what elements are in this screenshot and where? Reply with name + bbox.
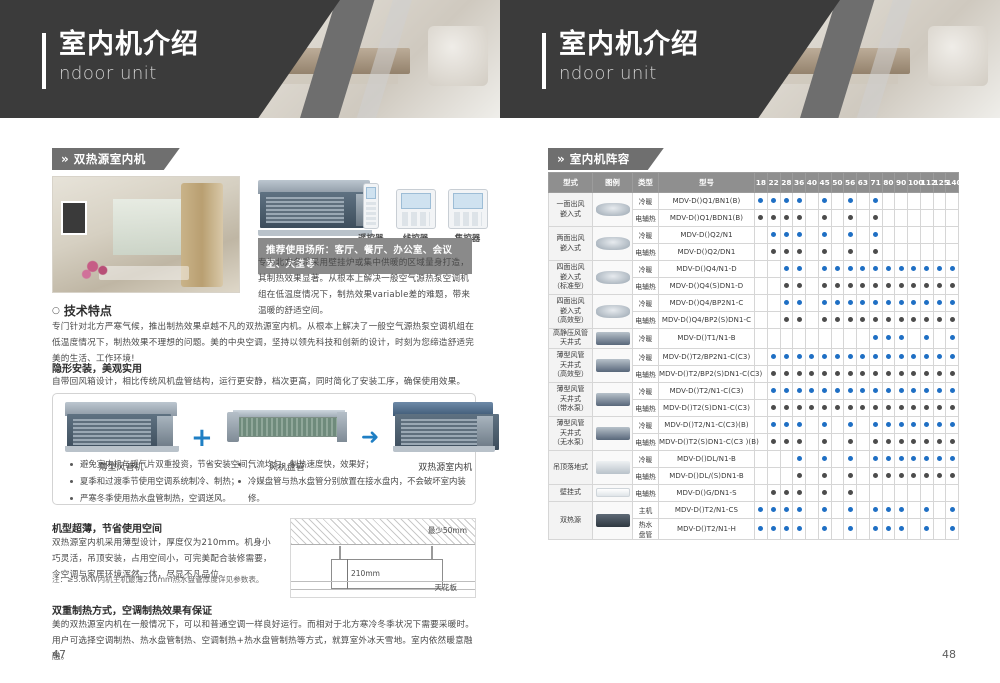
cell-capacity-63 (857, 416, 870, 433)
availability-dot-icon (835, 317, 840, 322)
cell-capacity-90 (895, 193, 908, 210)
availability-dot-icon (937, 473, 942, 478)
cell-capacity-56 (844, 399, 857, 416)
cell-capacity-36 (793, 278, 806, 295)
cell-capacity-112 (920, 278, 933, 295)
cell-capacity-112 (920, 210, 933, 227)
cell-model-number: MDV-D()Q4/BP2N1-C (659, 295, 755, 312)
availability-dot-icon (886, 422, 891, 427)
cell-capacity-36 (793, 348, 806, 365)
cell-capacity-63 (857, 382, 870, 399)
cell-capacity-140 (946, 244, 959, 261)
bullet-list-left: 避免室内机与暖气片双重投资，节省安装空间； 夏季和过渡季节使用空调系统制冷、制热… (70, 456, 260, 506)
cell-model-number: MDV-D()T2/N1-C(C3) (659, 382, 755, 399)
availability-dot-icon (822, 405, 827, 410)
availability-dot-icon (873, 283, 878, 288)
availability-dot-icon (784, 439, 789, 444)
bullet-list-right: 气流均匀，制热速度快，效果好； 冷媒盘管与热水盘管分别放置在接水盘内，不会破坏室… (238, 456, 468, 506)
cell-capacity-18 (755, 210, 768, 227)
tech-heading-row: ○ 技术特点 (52, 302, 112, 319)
cell-capacity-71 (869, 193, 882, 210)
ceiling-floor-icon (596, 461, 630, 474)
availability-dot-icon (784, 526, 789, 531)
cell-capacity-45 (818, 329, 831, 349)
cell-capacity-28 (780, 329, 793, 349)
cell-capacity-40 (806, 501, 819, 518)
cell-capacity-80 (882, 278, 895, 295)
sub3-paragraph: 美的双热源室内机在一般情况下，可以和普通空调一样良好运行。而相对于北方寒冷冬季状… (52, 618, 476, 666)
cell-capacity-63 (857, 518, 870, 539)
cell-capacity-36 (793, 365, 806, 382)
cell-capacity-28 (780, 450, 793, 467)
availability-dot-icon (809, 405, 814, 410)
interior-room-photo (52, 176, 240, 293)
availability-dot-icon (848, 354, 853, 359)
cell-capacity-45 (818, 227, 831, 244)
cell-illustration (593, 193, 633, 227)
cell-capacity-50 (831, 244, 844, 261)
cell-capacity-140 (946, 278, 959, 295)
availability-dot-icon (886, 300, 891, 305)
availability-dot-icon (797, 490, 802, 495)
cell-capacity-63 (857, 278, 870, 295)
availability-dot-icon (848, 473, 853, 478)
cell-capacity-100 (908, 193, 921, 210)
availability-dot-icon (848, 283, 853, 288)
cell-capacity-22 (767, 312, 780, 329)
availability-dot-icon (797, 405, 802, 410)
availability-dot-icon (899, 388, 904, 393)
cell-capacity-50 (831, 433, 844, 450)
col-header-capacity-100: 100 (908, 173, 921, 193)
cell-capacity-40 (806, 312, 819, 329)
cell-capacity-100 (908, 416, 921, 433)
list-item: 避免室内机与暖气片双重投资，节省安装空间； (70, 456, 260, 473)
availability-dot-icon (924, 439, 929, 444)
availability-dot-icon (950, 422, 955, 427)
cell-capacity-112 (920, 365, 933, 382)
cell-model-number: MDV-D()Q1/BDN1(B) (659, 210, 755, 227)
availability-dot-icon (848, 371, 853, 376)
availability-dot-icon (873, 215, 878, 220)
cell-capacity-50 (831, 227, 844, 244)
section-tag-right: » 室内机阵容 (548, 148, 664, 170)
cell-capacity-22 (767, 348, 780, 365)
cell-capacity-80 (882, 484, 895, 501)
availability-dot-icon (911, 439, 916, 444)
plus-icon: + (191, 425, 213, 451)
right-banner: 室内机介绍 ndoor unit (500, 0, 1000, 118)
circle-bullet-icon: ○ (52, 306, 60, 316)
availability-dot-icon (873, 198, 878, 203)
availability-dot-icon (835, 354, 840, 359)
availability-dot-icon (937, 300, 942, 305)
cell-capacity-90 (895, 244, 908, 261)
cell-model-number: MDV-D()Q4(S)DN1-D (659, 278, 755, 295)
availability-dot-icon (937, 354, 942, 359)
cell-capacity-45 (818, 450, 831, 467)
cell-capacity-63 (857, 365, 870, 382)
availability-dot-icon (886, 473, 891, 478)
availability-dot-icon (873, 232, 878, 237)
availability-dot-icon (950, 317, 955, 322)
availability-dot-icon (822, 388, 827, 393)
cell-capacity-90 (895, 312, 908, 329)
cell-capacity-125 (933, 278, 946, 295)
cell-capacity-71 (869, 365, 882, 382)
cell-capacity-63 (857, 399, 870, 416)
cell-heat-type: 电辅热 (633, 210, 659, 227)
cell-capacity-40 (806, 278, 819, 295)
table-row: 薄型风管 天井式 （无水泵）冷暖MDV-D()T2/N1-C(C3)(B) (549, 416, 959, 433)
cell-capacity-36 (793, 433, 806, 450)
cell-capacity-125 (933, 244, 946, 261)
cell-capacity-80 (882, 433, 895, 450)
cell-capacity-100 (908, 348, 921, 365)
cell-capacity-63 (857, 450, 870, 467)
cell-capacity-50 (831, 501, 844, 518)
cell-capacity-56 (844, 329, 857, 349)
cell-capacity-22 (767, 227, 780, 244)
cell-capacity-80 (882, 501, 895, 518)
cell-capacity-112 (920, 227, 933, 244)
cell-capacity-18 (755, 416, 768, 433)
cell-capacity-140 (946, 312, 959, 329)
cell-form-type: 四面出风 嵌入式 （标准型） (549, 261, 593, 295)
cell-capacity-80 (882, 467, 895, 484)
cell-capacity-125 (933, 227, 946, 244)
cell-capacity-28 (780, 295, 793, 312)
cell-capacity-22 (767, 501, 780, 518)
availability-dot-icon (886, 456, 891, 461)
cell-capacity-56 (844, 261, 857, 278)
cell-heat-type: 冷暖 (633, 227, 659, 244)
availability-dot-icon (771, 354, 776, 359)
section-tag-right-label: 室内机阵容 (570, 151, 630, 167)
cell-capacity-28 (780, 433, 793, 450)
table-row: 高静压风管 天井式冷暖MDV-D()T1/N1-B (549, 329, 959, 349)
availability-dot-icon (835, 388, 840, 393)
cell-capacity-140 (946, 501, 959, 518)
table-row: 四面出风 嵌入式 （高效型）冷暖MDV-D()Q4/BP2N1-C (549, 295, 959, 312)
availability-dot-icon (797, 371, 802, 376)
cell-capacity-28 (780, 518, 793, 539)
cell-capacity-18 (755, 329, 768, 349)
cell-model-number: MDV-D()T2(S)DN1-C(C3) (659, 399, 755, 416)
cell-capacity-125 (933, 484, 946, 501)
tech-heading: 技术特点 (64, 302, 112, 319)
table-row: 双热源主机MDV-D()T2/N1-CS (549, 501, 959, 518)
availability-dot-icon (784, 249, 789, 254)
cell-capacity-56 (844, 518, 857, 539)
availability-dot-icon (924, 354, 929, 359)
dual-source-icon (596, 514, 630, 527)
cell-capacity-36 (793, 416, 806, 433)
cell-capacity-45 (818, 382, 831, 399)
cell-heat-type: 冷暖 (633, 348, 659, 365)
slim-duct-pump-icon (596, 393, 630, 406)
availability-dot-icon (924, 283, 929, 288)
sub2-heading: 机型超薄，节省使用空间 (52, 520, 162, 535)
cell-capacity-112 (920, 484, 933, 501)
cell-capacity-71 (869, 312, 882, 329)
cell-capacity-100 (908, 467, 921, 484)
cell-capacity-80 (882, 518, 895, 539)
availability-dot-icon (784, 490, 789, 495)
table-body: 一面出风 嵌入式冷暖MDV-D()Q1/BN1(B)电辅热MDV-D()Q1/B… (549, 193, 959, 540)
availability-dot-icon (911, 456, 916, 461)
cell-capacity-22 (767, 399, 780, 416)
availability-dot-icon (797, 422, 802, 427)
availability-dot-icon (873, 249, 878, 254)
availability-dot-icon (950, 473, 955, 478)
availability-dot-icon (797, 215, 802, 220)
availability-dot-icon (899, 335, 904, 340)
table-row: 薄型风管 天井式 （带水泵）冷暖MDV-D()T2/N1-C(C3) (549, 382, 959, 399)
high-static-duct-icon (596, 332, 630, 345)
availability-dot-icon (822, 232, 827, 237)
cell-capacity-28 (780, 348, 793, 365)
cell-form-type: 吊顶落地式 (549, 450, 593, 484)
cell-capacity-36 (793, 312, 806, 329)
availability-dot-icon (899, 405, 904, 410)
availability-dot-icon (950, 335, 955, 340)
cell-capacity-22 (767, 450, 780, 467)
chevron-double-right-icon: » (557, 152, 563, 166)
cell-capacity-112 (920, 193, 933, 210)
cell-capacity-56 (844, 433, 857, 450)
cell-capacity-112 (920, 501, 933, 518)
availability-dot-icon (873, 317, 878, 322)
availability-dot-icon (822, 249, 827, 254)
availability-dot-icon (911, 473, 916, 478)
cell-capacity-125 (933, 518, 946, 539)
cell-capacity-100 (908, 450, 921, 467)
cell-heat-type: 电辅热 (633, 467, 659, 484)
availability-dot-icon (784, 266, 789, 271)
cell-capacity-80 (882, 261, 895, 278)
cell-capacity-45 (818, 365, 831, 382)
availability-dot-icon (797, 388, 802, 393)
cell-model-number: MDV-D()T2/N1-C(C3)(B) (659, 416, 755, 433)
cell-capacity-90 (895, 382, 908, 399)
cell-capacity-112 (920, 295, 933, 312)
cell-form-type: 薄型风管 天井式 （带水泵） (549, 382, 593, 416)
cell-capacity-56 (844, 450, 857, 467)
availability-dot-icon (784, 215, 789, 220)
cell-capacity-56 (844, 467, 857, 484)
cell-capacity-140 (946, 382, 959, 399)
cell-illustration (593, 348, 633, 382)
availability-dot-icon (860, 317, 865, 322)
availability-dot-icon (950, 405, 955, 410)
cell-capacity-90 (895, 399, 908, 416)
cell-capacity-80 (882, 227, 895, 244)
cell-capacity-18 (755, 193, 768, 210)
cassette-4way-icon (596, 271, 630, 284)
cell-form-type: 两面出风 嵌入式 (549, 227, 593, 261)
availability-dot-icon (784, 388, 789, 393)
cell-heat-type: 冷暖 (633, 193, 659, 210)
cell-capacity-125 (933, 295, 946, 312)
cell-capacity-140 (946, 399, 959, 416)
ceiling-label: 天花板 (435, 582, 458, 593)
cell-model-number: MDV-D()Q1/BN1(B) (659, 193, 755, 210)
controller-central: 集控器 (448, 189, 488, 244)
cell-capacity-140 (946, 484, 959, 501)
availability-dot-icon (860, 283, 865, 288)
availability-dot-icon (771, 422, 776, 427)
cell-capacity-28 (780, 261, 793, 278)
cell-capacity-50 (831, 193, 844, 210)
availability-dot-icon (937, 317, 942, 322)
availability-dot-icon (797, 473, 802, 478)
cell-capacity-40 (806, 382, 819, 399)
cell-form-type: 壁挂式 (549, 484, 593, 501)
availability-dot-icon (911, 317, 916, 322)
availability-dot-icon (848, 300, 853, 305)
cell-capacity-50 (831, 484, 844, 501)
cell-model-number: MDV-D()T2/N1-CS (659, 501, 755, 518)
cell-heat-type: 电辅热 (633, 312, 659, 329)
cell-heat-type: 热水 盘管 (633, 518, 659, 539)
availability-dot-icon (848, 405, 853, 410)
availability-dot-icon (848, 249, 853, 254)
list-item: 冷媒盘管与热水盘管分别放置在接水盘内，不会破坏室内装修。 (238, 473, 468, 507)
cell-capacity-50 (831, 382, 844, 399)
cell-capacity-22 (767, 210, 780, 227)
col-header-capacity-125: 125 (933, 173, 946, 193)
cell-capacity-71 (869, 210, 882, 227)
col-header-capacity-140: 140 (946, 173, 959, 193)
cell-capacity-63 (857, 227, 870, 244)
banner-title-cn-right: 室内机介绍 (559, 30, 699, 60)
availability-dot-icon (809, 388, 814, 393)
availability-dot-icon (873, 456, 878, 461)
cell-capacity-100 (908, 382, 921, 399)
col-header-capacity-63: 63 (857, 173, 870, 193)
cell-capacity-40 (806, 365, 819, 382)
availability-dot-icon (950, 526, 955, 531)
cell-capacity-28 (780, 501, 793, 518)
availability-dot-icon (797, 232, 802, 237)
cell-capacity-50 (831, 518, 844, 539)
availability-dot-icon (924, 405, 929, 410)
availability-dot-icon (873, 526, 878, 531)
cell-heat-type: 电辅热 (633, 433, 659, 450)
availability-dot-icon (784, 371, 789, 376)
cell-capacity-40 (806, 295, 819, 312)
cell-illustration (593, 227, 633, 261)
availability-dot-icon (797, 266, 802, 271)
availability-dot-icon (911, 266, 916, 271)
availability-dot-icon (758, 507, 763, 512)
cell-capacity-63 (857, 484, 870, 501)
cell-heat-type: 电辅热 (633, 365, 659, 382)
availability-dot-icon (784, 317, 789, 322)
availability-dot-icon (797, 300, 802, 305)
cell-capacity-22 (767, 244, 780, 261)
cell-capacity-71 (869, 278, 882, 295)
availability-dot-icon (899, 456, 904, 461)
availability-dot-icon (924, 371, 929, 376)
sub2-note: 注：≥5.6kW内机主机最薄210mm热水盘管厚度详见参数表。 (52, 574, 280, 585)
cell-heat-type: 冷暖 (633, 416, 659, 433)
cell-capacity-18 (755, 450, 768, 467)
cell-capacity-140 (946, 365, 959, 382)
cell-capacity-45 (818, 518, 831, 539)
availability-dot-icon (950, 283, 955, 288)
cell-capacity-90 (895, 501, 908, 518)
cell-capacity-50 (831, 261, 844, 278)
slim-duct-hi-icon (596, 359, 630, 372)
cell-capacity-45 (818, 399, 831, 416)
cell-capacity-140 (946, 261, 959, 278)
cell-capacity-63 (857, 210, 870, 227)
availability-dot-icon (950, 266, 955, 271)
cell-capacity-140 (946, 467, 959, 484)
cell-capacity-22 (767, 295, 780, 312)
availability-dot-icon (822, 456, 827, 461)
availability-dot-icon (784, 300, 789, 305)
page-number-left: 47 (52, 648, 66, 661)
availability-dot-icon (911, 371, 916, 376)
availability-dot-icon (771, 507, 776, 512)
cell-capacity-45 (818, 484, 831, 501)
availability-dot-icon (873, 371, 878, 376)
cell-form-type: 一面出风 嵌入式 (549, 193, 593, 227)
cell-capacity-71 (869, 244, 882, 261)
cell-capacity-40 (806, 467, 819, 484)
cell-form-type: 双热源 (549, 501, 593, 539)
cell-capacity-112 (920, 382, 933, 399)
col-header-capacity-112: 112 (920, 173, 933, 193)
availability-dot-icon (771, 439, 776, 444)
cell-capacity-112 (920, 329, 933, 349)
availability-dot-icon (860, 300, 865, 305)
cell-capacity-100 (908, 210, 921, 227)
cell-capacity-100 (908, 295, 921, 312)
cell-heat-type: 冷暖 (633, 261, 659, 278)
availability-dot-icon (771, 388, 776, 393)
availability-dot-icon (758, 198, 763, 203)
cell-capacity-22 (767, 365, 780, 382)
availability-dot-icon (848, 388, 853, 393)
availability-dot-icon (848, 215, 853, 220)
availability-dot-icon (886, 405, 891, 410)
availability-dot-icon (873, 266, 878, 271)
cell-capacity-112 (920, 312, 933, 329)
cell-capacity-100 (908, 244, 921, 261)
availability-dot-icon (860, 354, 865, 359)
cell-heat-type: 电辅热 (633, 484, 659, 501)
availability-dot-icon (771, 249, 776, 254)
cell-capacity-45 (818, 295, 831, 312)
cell-capacity-50 (831, 348, 844, 365)
availability-dot-icon (950, 439, 955, 444)
cell-capacity-100 (908, 518, 921, 539)
cell-model-number: MDV-D()DL/N1-B (659, 450, 755, 467)
availability-dot-icon (924, 526, 929, 531)
availability-dot-icon (784, 422, 789, 427)
cell-capacity-100 (908, 484, 921, 501)
cell-heat-type: 冷暖 (633, 382, 659, 399)
wall-mounted-icon (596, 488, 630, 497)
cell-capacity-112 (920, 261, 933, 278)
arrow-right-icon: ➜ (361, 427, 379, 449)
cell-capacity-80 (882, 450, 895, 467)
cell-capacity-36 (793, 484, 806, 501)
